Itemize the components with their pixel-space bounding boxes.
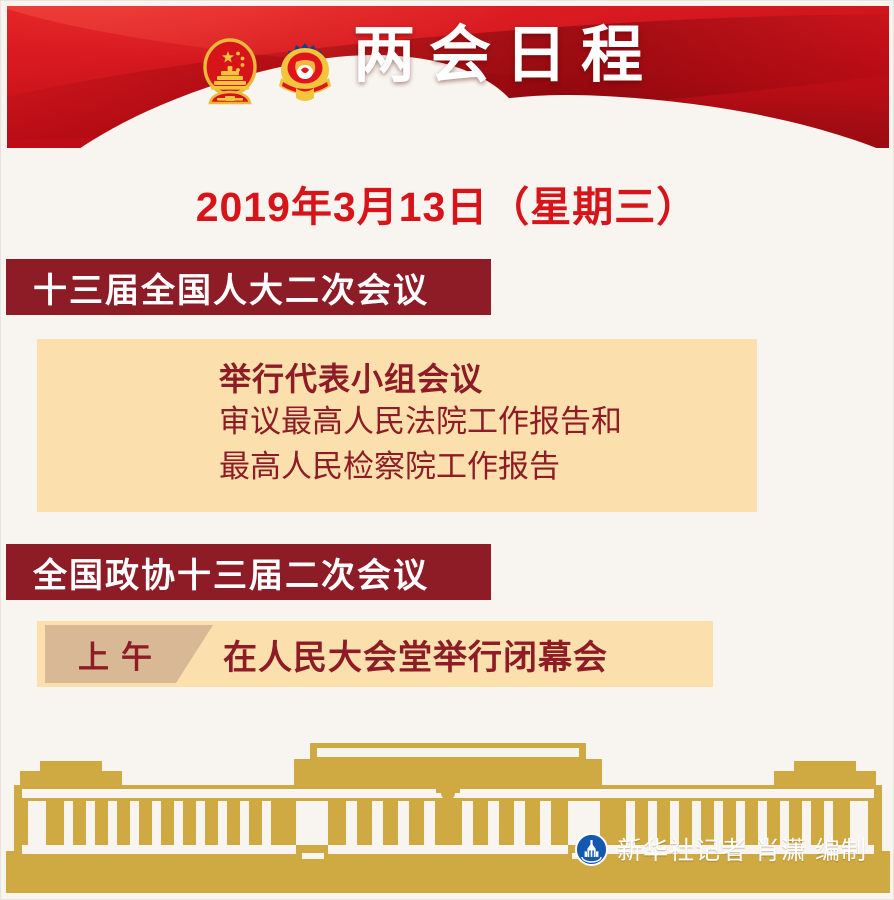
- great-hall-of-the-people-illustration: [6, 733, 890, 893]
- credit-text: 新华社记者 肖潇 编制: [617, 831, 867, 867]
- npc-entry-line-2: 最高人民检察院工作报告: [219, 445, 757, 490]
- npc-entry-title: 举行代表小组会议: [219, 358, 757, 400]
- date-heading: 2019年3月13日（星期三）: [1, 173, 893, 233]
- emblem-group: [198, 37, 336, 109]
- time-label-morning: 上午: [45, 625, 213, 683]
- poster-root: 两会日程 2019年3月13日（星期三） 十三届全国人大二次会议 举行代表小组会…: [0, 0, 894, 900]
- credit-block: 新华社记者 肖潇 编制: [575, 831, 867, 867]
- npc-entry-line-1: 审议最高人民法院工作报告和: [219, 400, 757, 445]
- cppcc-content-row: 上午 在人民大会堂举行闭幕会: [37, 621, 713, 687]
- section-header-npc: 十三届全国人大二次会议: [6, 259, 491, 315]
- xinhua-logo-icon: [575, 833, 608, 866]
- npc-content-box: 举行代表小组会议 审议最高人民法院工作报告和 最高人民检察院工作报告: [37, 339, 757, 512]
- section-header-cppcc: 全国政协十三届二次会议: [6, 544, 491, 600]
- national-emblem-icon: [198, 37, 262, 109]
- page-title: 两会日程: [353, 25, 657, 87]
- cppcc-emblem-icon: [274, 38, 336, 108]
- cppcc-entry-text: 在人民大会堂举行闭幕会: [223, 621, 608, 687]
